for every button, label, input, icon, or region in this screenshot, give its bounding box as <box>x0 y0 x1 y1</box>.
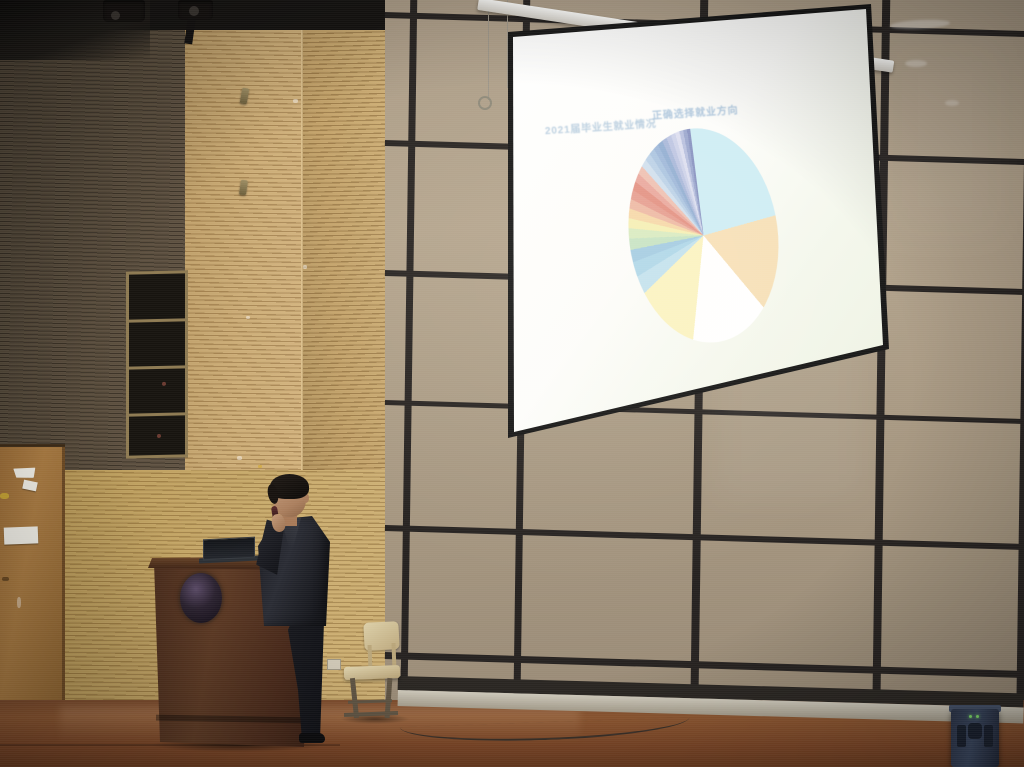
panel-mullion <box>1015 0 1024 767</box>
screen-hook-icon <box>478 96 492 110</box>
panel-mullion <box>385 525 1024 550</box>
panel-mullion <box>385 652 1024 678</box>
auditorium-scene: 2021届毕业生就业情况 正确选择就业方向 <box>0 0 1024 767</box>
door-notice-paper <box>22 480 38 492</box>
ceiling-speaker-icon <box>103 0 145 22</box>
projection-booth-window <box>126 270 188 458</box>
speaker-cone-icon <box>968 723 982 739</box>
wall-outlet <box>327 659 341 670</box>
speaker-port <box>957 725 966 747</box>
wall-scuff <box>293 99 298 103</box>
laptop-screen[interactable] <box>203 537 255 561</box>
panel-stain <box>945 100 959 106</box>
power-led-icon <box>976 715 979 718</box>
wall-scuff <box>258 465 262 468</box>
screen-suspension-wire <box>488 0 489 100</box>
podium-emblem-icon <box>180 573 222 623</box>
door-scuff <box>17 597 21 608</box>
side-door[interactable] <box>0 447 65 742</box>
wall-scuff <box>246 316 250 319</box>
door-handle-icon[interactable] <box>2 577 9 581</box>
door-notice-paper <box>4 526 39 544</box>
speaker-shoe <box>299 733 325 743</box>
floor-speaker <box>951 709 999 767</box>
speaker-port <box>984 725 993 747</box>
wall-scuff <box>303 265 307 269</box>
panel-mullion <box>385 400 1024 424</box>
pie-chart-slices <box>616 120 791 352</box>
ceiling-speaker-icon <box>178 0 213 20</box>
door-marking <box>0 493 9 499</box>
panel-stain <box>905 60 927 67</box>
door-notice-paper <box>13 466 36 481</box>
slide-title-right: 正确选择就业方向 <box>651 101 738 122</box>
power-led-icon <box>969 715 972 718</box>
pie-chart <box>615 123 791 348</box>
wall-scuff <box>237 456 242 460</box>
